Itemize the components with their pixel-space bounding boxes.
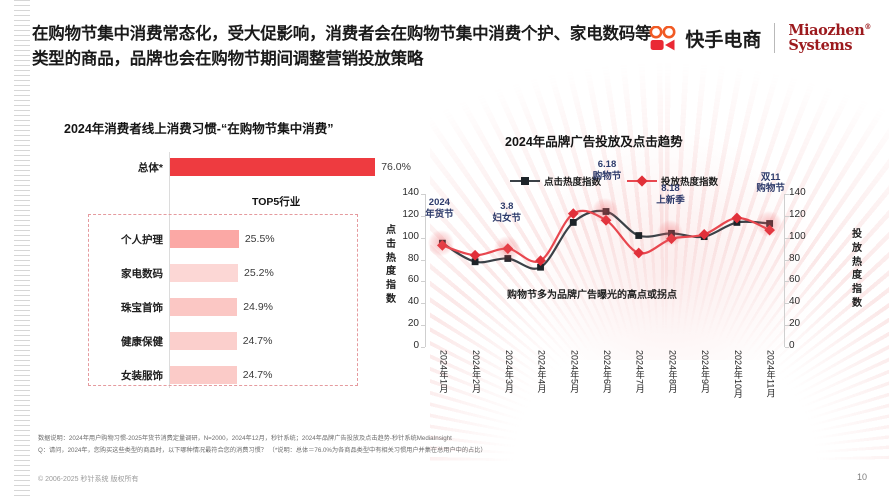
x-axis-tick-label: 2024年9月	[699, 350, 712, 393]
annotation-line: 3.8	[479, 201, 535, 213]
industry-bar-row: 健康保健24.7%	[30, 330, 375, 352]
y-axis-tick-label: 60	[385, 274, 419, 285]
bar-category-label: 个人护理	[30, 228, 163, 250]
y-axis-tick-label: 20	[789, 318, 823, 329]
bar-category-label: 家电数码	[30, 262, 163, 284]
footnote-line-1: 数据说明：2024年用户购物习惯-2025年货节消费定量调研，N=2000，20…	[38, 433, 738, 444]
x-axis-tick-label: 2024年10月	[732, 350, 745, 398]
bar-category-label: 珠宝首饰	[30, 296, 163, 318]
legend-square-marker-icon	[521, 177, 529, 185]
industry-bar-row: 女装服饰24.7%	[30, 364, 375, 386]
x-axis-tick-label: 2024年8月	[666, 350, 679, 393]
festival-annotation: 3.8妇女节	[479, 201, 535, 225]
annotation-line: 2024	[411, 197, 467, 209]
left-chart-title: 2024年消费者线上消费习惯-“在购物节集中消费”	[64, 118, 333, 137]
miaozhen-logo-line2: Systems	[788, 39, 871, 54]
legend-line-click-icon	[510, 180, 540, 182]
y-axis-tick-label: 20	[385, 318, 419, 329]
data-point-square	[603, 208, 610, 215]
festival-annotation: 2024年货节	[411, 197, 467, 221]
data-point-diamond	[633, 248, 644, 259]
annotation-line: 6.18	[579, 159, 635, 171]
kuaishou-logo-text: 快手电商	[685, 25, 761, 52]
x-axis-tick-label: 2024年7月	[634, 350, 647, 393]
y-axis-tick-label: 80	[385, 253, 419, 264]
data-point-diamond	[437, 240, 448, 251]
x-axis-tick-label: 2024年5月	[568, 350, 581, 393]
y-axis-tick-label: 40	[385, 296, 419, 307]
data-point-diamond	[502, 243, 513, 254]
logo-divider	[774, 23, 775, 53]
x-axis-tick-label: 2024年1月	[437, 350, 450, 393]
miaozhen-trademark: ®	[864, 22, 871, 31]
annotation-line: 双11	[743, 172, 799, 184]
slide-root: 在购物节集中消费常态化，受大促影响，消费者会在购物节集中消费个护、家电数码等类型…	[0, 0, 889, 500]
logo-group: 快手电商 Miaozhen® Systems	[648, 23, 871, 53]
kuaishou-mark-icon	[648, 26, 678, 51]
copyright-text: © 2006-2025 秒针系统 版权所有	[38, 474, 138, 484]
slide-header: 在购物节集中消费常态化，受大促影响，消费者会在购物节集中消费个护、家电数码等类型…	[0, 0, 889, 75]
data-point-diamond	[470, 250, 481, 261]
total-bar-row: 总体*76.0%	[30, 156, 375, 178]
data-point-square	[504, 255, 511, 262]
bar-fill	[170, 230, 239, 248]
bar-fill	[170, 366, 237, 384]
bar-value-label: 25.2%	[244, 262, 274, 284]
bar-fill	[170, 158, 375, 176]
festival-annotation: 6.18购物节	[579, 159, 635, 183]
y-axis-tick-label: 60	[789, 274, 823, 285]
data-point-square	[570, 219, 577, 226]
page-title: 在购物节集中消费常态化，受大促影响，消费者会在购物节集中消费个护、家电数码等类型…	[32, 22, 652, 72]
bar-fill	[170, 332, 237, 350]
y-axis-tick-label: 40	[789, 296, 823, 307]
right-line-chart: 点击热度指数 投放热度指数 点击热度指数 投放热度指数 002020404060…	[385, 150, 885, 415]
footnote-line-2: Q：请问，2024年，您购买这些类型的商品时，以下哪种情况最符合您的消费习惯？ …	[38, 445, 738, 456]
festival-annotation: 双11购物节	[743, 172, 799, 196]
miaozhen-logo: Miaozhen® Systems	[788, 23, 871, 53]
chart-inline-note: 购物节多为品牌广告曝光的高点或拐点	[507, 286, 677, 301]
x-axis-tick-label: 2024年3月	[503, 350, 516, 393]
annotation-line: 年货节	[411, 209, 467, 221]
bar-category-label: 女装服饰	[30, 364, 163, 386]
data-point-diamond	[699, 229, 710, 240]
industry-bar-row: 家电数码25.2%	[30, 262, 375, 284]
kuaishou-logo: 快手电商	[648, 25, 761, 52]
top5-group-label: TOP5行业	[252, 194, 300, 209]
festival-annotation: 8.18上新季	[642, 183, 698, 207]
left-bar-chart: TOP5行业 总体*76.0%个人护理25.5%家电数码25.2%珠宝首饰24.…	[30, 150, 375, 400]
y-axis-tick-label: 80	[789, 253, 823, 264]
page-number: 10	[857, 472, 867, 482]
x-axis-tick-label: 2024年4月	[536, 350, 549, 393]
y-axis-tick-label: 100	[789, 231, 823, 242]
industry-bar-row: 珠宝首饰24.9%	[30, 296, 375, 318]
bar-value-label: 24.7%	[243, 364, 273, 386]
x-axis-tick-label: 2024年11月	[765, 350, 778, 397]
y-axis-tick-mark	[785, 347, 789, 348]
y-axis-tick-mark	[421, 347, 425, 348]
bar-category-label: 总体*	[30, 156, 163, 178]
y-axis-tick-label: 100	[385, 231, 419, 242]
bar-fill	[170, 264, 238, 282]
data-point-square	[635, 232, 642, 239]
annotation-line: 上新季	[642, 195, 698, 207]
y-axis-tick-label: 0	[385, 340, 419, 351]
annotation-line: 购物节	[579, 171, 635, 183]
x-axis-tick-label: 2024年6月	[601, 350, 614, 393]
bar-value-label: 24.9%	[243, 296, 273, 318]
industry-bar-row: 个人护理25.5%	[30, 228, 375, 250]
right-chart-title: 2024年品牌广告投放及点击趋势	[505, 131, 683, 150]
data-point-diamond	[764, 225, 775, 236]
bar-value-label: 24.7%	[243, 330, 273, 352]
bar-value-label: 25.5%	[245, 228, 275, 250]
bar-fill	[170, 298, 237, 316]
decorative-left-stripes	[14, 0, 30, 500]
y-axis-right-title: 投放热度指数	[851, 228, 863, 311]
footnote-block: 数据说明：2024年用户购物习惯-2025年货节消费定量调研，N=2000，20…	[38, 433, 738, 456]
y-axis-tick-label: 0	[789, 340, 823, 351]
y-axis-tick-label: 120	[789, 209, 823, 220]
data-point-diamond	[666, 233, 677, 244]
annotation-line: 8.18	[642, 183, 698, 195]
annotation-line: 购物节	[743, 183, 799, 195]
x-axis-tick-label: 2024年2月	[470, 350, 483, 393]
bar-category-label: 健康保健	[30, 330, 163, 352]
annotation-line: 妇女节	[479, 213, 535, 225]
